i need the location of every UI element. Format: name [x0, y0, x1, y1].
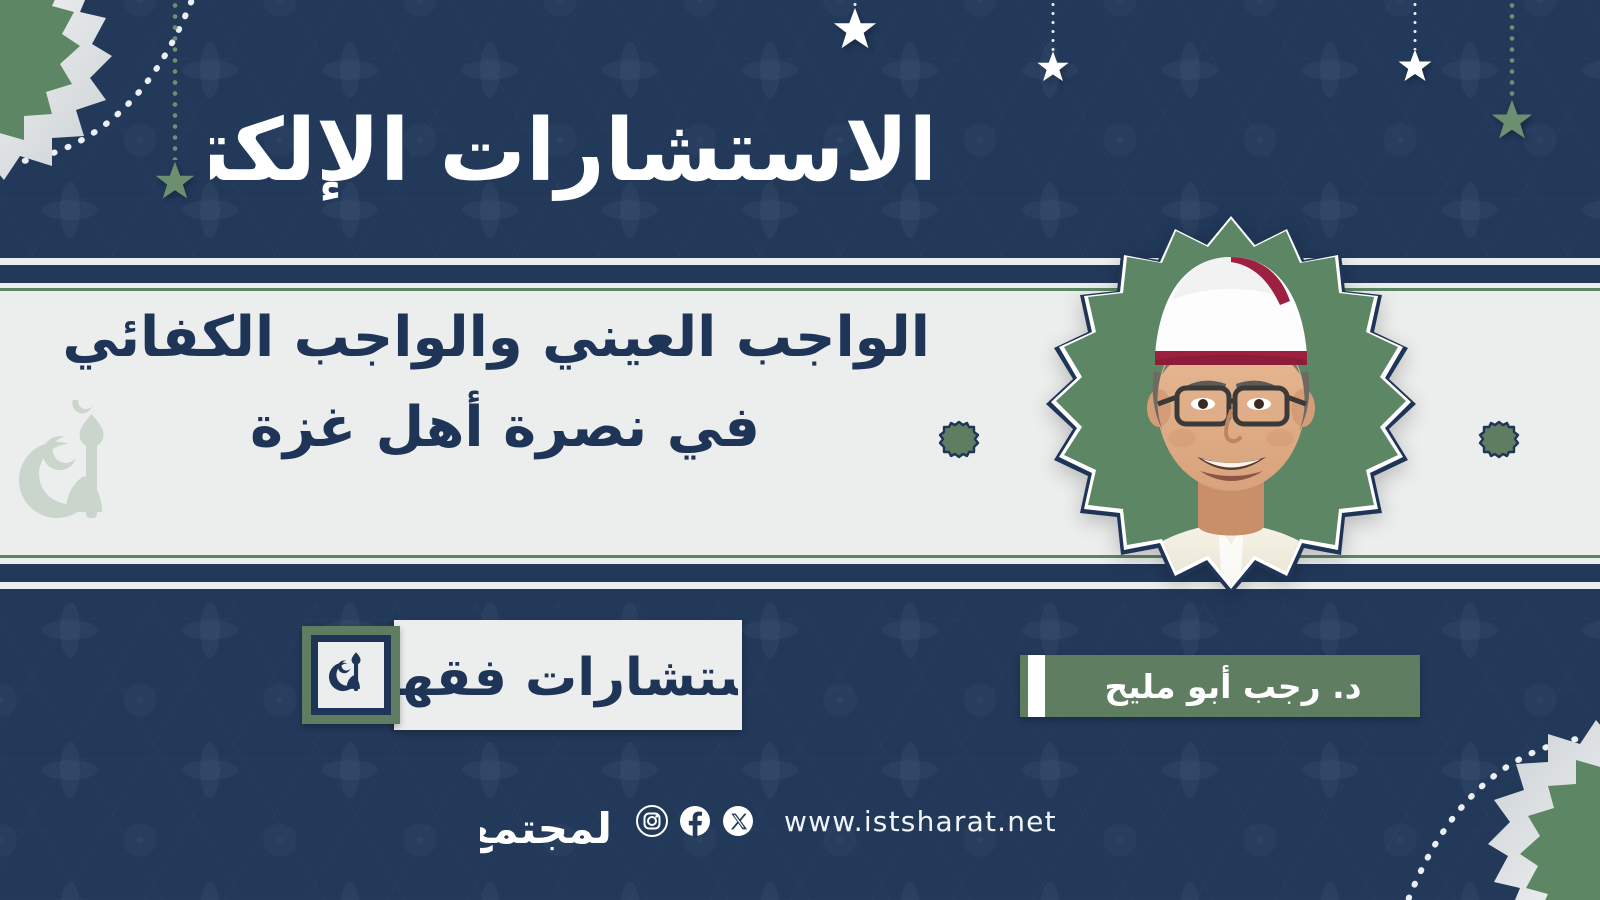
series-badge: استشارات فقهية — [302, 620, 742, 730]
poster-canvas: بوابة الاستشارات الإلكترونية الواجب العي… — [0, 0, 1600, 900]
series-label-plate: استشارات فقهية — [394, 620, 742, 730]
series-logo-panel — [318, 642, 384, 708]
page-title: الواجب العيني والواجب الكفائي في نصرة أه… — [80, 300, 930, 466]
title-line-2: في نصرة أهل غزة — [80, 390, 930, 466]
rosette-ornament-icon — [938, 420, 980, 462]
avatar — [1022, 205, 1440, 623]
series-label: استشارات فقهية — [398, 648, 738, 708]
x-twitter-icon[interactable] — [722, 805, 754, 837]
rosette-ornament-icon — [1478, 420, 1520, 462]
badge-accent-bar — [1028, 655, 1045, 717]
instagram-icon[interactable] — [636, 805, 668, 837]
footer-calligraphy: المجتمع — [480, 777, 610, 865]
footer-bar: المجتمع www.istsharat.net — [480, 775, 1100, 867]
portal-title-text: بوابة الاستشارات الإلكترونية — [210, 101, 930, 202]
star-glyph-icon — [1397, 48, 1433, 84]
series-logo-frame — [302, 626, 400, 724]
speaker-name: د. رجب أبو مليح — [1020, 667, 1420, 706]
website-url[interactable]: www.istsharat.net — [784, 805, 1057, 838]
footer-calligraphy-text: المجتمع — [480, 804, 610, 854]
title-line-1: الواجب العيني والواجب الكفائي — [80, 300, 930, 376]
star-glyph-icon — [1490, 98, 1534, 142]
facebook-icon[interactable] — [679, 805, 711, 837]
status-badge: د. رجب أبو مليح — [1020, 655, 1420, 717]
portal-title-calligraphy: بوابة الاستشارات الإلكترونية — [210, 52, 930, 217]
star-glyph-icon — [154, 160, 196, 202]
series-logo-inner-frame — [311, 635, 391, 715]
mosque-crescent-logo-icon — [328, 647, 374, 703]
social-links — [636, 805, 754, 837]
star-glyph-icon — [1036, 50, 1070, 84]
star-glyph-icon — [832, 6, 878, 52]
